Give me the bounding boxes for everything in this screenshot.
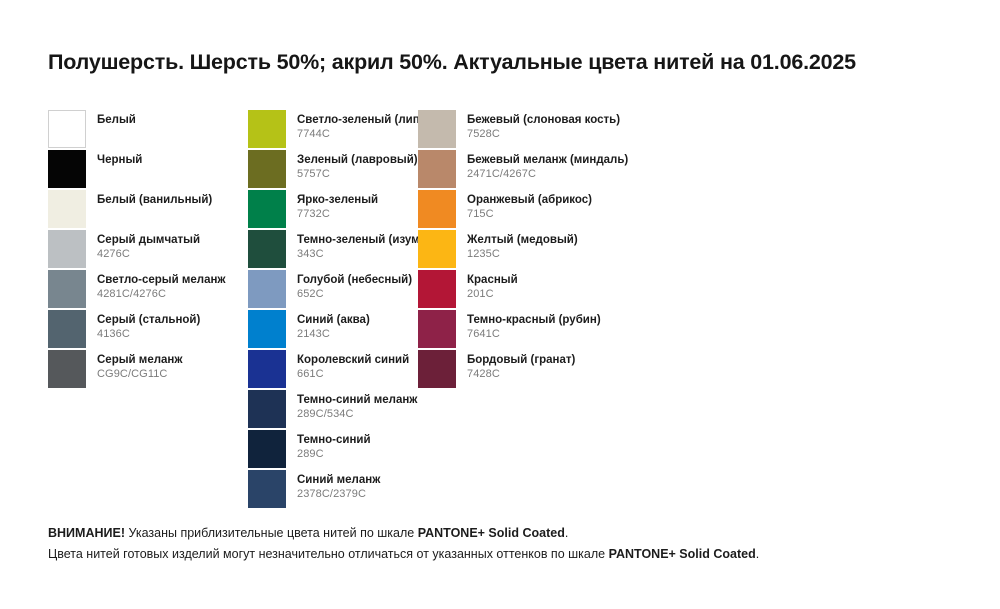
color-swatch[interactable]	[248, 350, 286, 388]
footer-line-2: Цвета нитей готовых изделий могут незнач…	[48, 544, 759, 565]
swatch-pantone-code: 7641C	[467, 328, 601, 341]
color-swatch[interactable]	[418, 110, 456, 148]
swatch-row[interactable]: Темно-синий меланж289C/534C	[248, 390, 418, 430]
swatch-pantone-code: 1235C	[467, 248, 578, 261]
footer-line-2-suffix: .	[756, 547, 759, 561]
color-swatch[interactable]	[248, 190, 286, 228]
footer-line-2-brand: PANTONE+ Solid Coated	[609, 547, 756, 561]
swatch-name: Серый дымчатый	[97, 234, 200, 248]
footer-line-1-brand: PANTONE+ Solid Coated	[418, 526, 565, 540]
swatch-row[interactable]: Ярко-зеленый7732C	[248, 190, 418, 230]
color-swatch[interactable]	[418, 190, 456, 228]
color-swatch[interactable]	[418, 270, 456, 308]
swatch-pantone-code: 289C/534C	[297, 408, 417, 421]
swatch-name: Королевский синий	[297, 354, 409, 368]
swatch-pantone-code: 5757C	[297, 168, 418, 181]
swatch-name: Бордовый (гранат)	[467, 354, 575, 368]
swatch-row[interactable]: Бежевый меланж (миндаль)2471C/4267C	[418, 150, 718, 190]
swatch-row[interactable]: Светло-серый меланж4281C/4276C	[48, 270, 248, 310]
swatch-pantone-code: 661C	[297, 368, 409, 381]
swatch-name: Черный	[97, 154, 142, 168]
color-swatch[interactable]	[248, 390, 286, 428]
swatch-row[interactable]: Красный201C	[418, 270, 718, 310]
swatch-name: Белый	[97, 114, 136, 128]
swatch-name: Белый (ванильный)	[97, 194, 212, 208]
swatch-pantone-code: 289C	[297, 448, 371, 461]
swatch-pantone-code: 7528C	[467, 128, 620, 141]
swatch-columns: БелыйЧерныйБелый (ванильный)Серый дымчат…	[48, 110, 958, 510]
footer-note: ВНИМАНИЕ! Указаны приблизительные цвета …	[48, 523, 759, 564]
swatch-row[interactable]: Светло-зеленый (липа)7744C	[248, 110, 418, 150]
color-chart-page: Полушерсть. Шерсть 50%; акрил 50%. Актуа…	[0, 0, 1000, 609]
swatch-labels: Королевский синий661C	[297, 350, 409, 381]
swatch-labels: Голубой (небесный)652C	[297, 270, 412, 301]
footer-line-1: ВНИМАНИЕ! Указаны приблизительные цвета …	[48, 523, 759, 544]
color-swatch[interactable]	[48, 230, 86, 268]
page-title: Полушерсть. Шерсть 50%; акрил 50%. Актуа…	[48, 50, 856, 75]
swatch-row[interactable]: Серый дымчатый4276C	[48, 230, 248, 270]
swatch-labels: Белый	[97, 110, 136, 128]
swatch-pantone-code: 4276C	[97, 248, 200, 261]
swatch-row[interactable]: Белый (ванильный)	[48, 190, 248, 230]
swatch-labels: Черный	[97, 150, 142, 168]
swatch-name: Ярко-зеленый	[297, 194, 378, 208]
column-warm: Бежевый (слоновая кость)7528CБежевый мел…	[418, 110, 718, 390]
swatch-name: Серый меланж	[97, 354, 183, 368]
footer-attention-label: ВНИМАНИЕ!	[48, 526, 125, 540]
color-swatch[interactable]	[248, 430, 286, 468]
swatch-pantone-code: 2378C/2379C	[297, 488, 380, 501]
swatch-labels: Зеленый (лавровый)5757C	[297, 150, 418, 181]
swatch-labels: Серый (стальной)4136C	[97, 310, 200, 341]
color-swatch[interactable]	[48, 350, 86, 388]
swatch-pantone-code: 652C	[297, 288, 412, 301]
swatch-labels: Темно-красный (рубин)7641C	[467, 310, 601, 341]
swatch-labels: Синий меланж2378C/2379C	[297, 470, 380, 501]
swatch-row[interactable]: Синий (аква)2143C	[248, 310, 418, 350]
swatch-pantone-code: 201C	[467, 288, 518, 301]
swatch-name: Оранжевый (абрикос)	[467, 194, 592, 208]
color-swatch[interactable]	[248, 150, 286, 188]
swatch-labels: Светло-зеленый (липа)7744C	[297, 110, 430, 141]
swatch-row[interactable]: Синий меланж2378C/2379C	[248, 470, 418, 510]
color-swatch[interactable]	[48, 190, 86, 228]
swatch-labels: Оранжевый (абрикос)715C	[467, 190, 592, 221]
swatch-row[interactable]: Черный	[48, 150, 248, 190]
swatch-labels: Бежевый (слоновая кость)7528C	[467, 110, 620, 141]
swatch-labels: Бордовый (гранат)7428C	[467, 350, 575, 381]
swatch-name: Бежевый (слоновая кость)	[467, 114, 620, 128]
swatch-pantone-code: 7428C	[467, 368, 575, 381]
swatch-name: Светло-серый меланж	[97, 274, 226, 288]
swatch-pantone-code: CG9C/CG11C	[97, 368, 183, 381]
swatch-row[interactable]: Желтый (медовый)1235C	[418, 230, 718, 270]
color-swatch[interactable]	[248, 470, 286, 508]
footer-line-1-suffix: .	[565, 526, 568, 540]
color-swatch[interactable]	[248, 230, 286, 268]
swatch-row[interactable]: Бордовый (гранат)7428C	[418, 350, 718, 390]
swatch-row[interactable]: Белый	[48, 110, 248, 150]
swatch-labels: Бежевый меланж (миндаль)2471C/4267C	[467, 150, 628, 181]
swatch-labels: Синий (аква)2143C	[297, 310, 370, 341]
swatch-row[interactable]: Серый (стальной)4136C	[48, 310, 248, 350]
swatch-labels: Темно-синий289C	[297, 430, 371, 461]
swatch-row[interactable]: Темно-зеленый (изумруд)343C	[248, 230, 418, 270]
color-swatch[interactable]	[418, 350, 456, 388]
swatch-labels: Ярко-зеленый7732C	[297, 190, 378, 221]
color-swatch[interactable]	[48, 150, 86, 188]
swatch-row[interactable]: Королевский синий661C	[248, 350, 418, 390]
swatch-row[interactable]: Темно-синий289C	[248, 430, 418, 470]
swatch-labels: Серый меланжCG9C/CG11C	[97, 350, 183, 381]
footer-line-2-text: Цвета нитей готовых изделий могут незнач…	[48, 547, 609, 561]
swatch-labels: Серый дымчатый4276C	[97, 230, 200, 261]
swatch-name: Красный	[467, 274, 518, 288]
swatch-labels: Темно-синий меланж289C/534C	[297, 390, 417, 421]
swatch-row[interactable]: Оранжевый (абрикос)715C	[418, 190, 718, 230]
swatch-name: Синий (аква)	[297, 314, 370, 328]
color-swatch[interactable]	[48, 110, 86, 148]
swatch-name: Светло-зеленый (липа)	[297, 114, 430, 128]
color-swatch[interactable]	[248, 110, 286, 148]
swatch-pantone-code: 4281C/4276C	[97, 288, 226, 301]
column-grayscale: БелыйЧерныйБелый (ванильный)Серый дымчат…	[48, 110, 248, 390]
swatch-name: Голубой (небесный)	[297, 274, 412, 288]
swatch-name: Зеленый (лавровый)	[297, 154, 418, 168]
swatch-pantone-code: 715C	[467, 208, 592, 221]
color-swatch[interactable]	[248, 310, 286, 348]
color-swatch[interactable]	[248, 270, 286, 308]
swatch-name: Серый (стальной)	[97, 314, 200, 328]
swatch-pantone-code: 2143C	[297, 328, 370, 341]
column-green-blue: Светло-зеленый (липа)7744CЗеленый (лавро…	[248, 110, 418, 510]
swatch-pantone-code: 4136C	[97, 328, 200, 341]
swatch-row[interactable]: Серый меланжCG9C/CG11C	[48, 350, 248, 390]
color-swatch[interactable]	[418, 310, 456, 348]
swatch-name: Темно-красный (рубин)	[467, 314, 601, 328]
swatch-row[interactable]: Бежевый (слоновая кость)7528C	[418, 110, 718, 150]
swatch-name: Темно-синий	[297, 434, 371, 448]
swatch-row[interactable]: Зеленый (лавровый)5757C	[248, 150, 418, 190]
swatch-labels: Красный201C	[467, 270, 518, 301]
swatch-pantone-code: 7744C	[297, 128, 430, 141]
swatch-labels: Светло-серый меланж4281C/4276C	[97, 270, 226, 301]
swatch-row[interactable]: Голубой (небесный)652C	[248, 270, 418, 310]
swatch-labels: Желтый (медовый)1235C	[467, 230, 578, 261]
swatch-name: Бежевый меланж (миндаль)	[467, 154, 628, 168]
color-swatch[interactable]	[418, 230, 456, 268]
color-swatch[interactable]	[48, 270, 86, 308]
swatch-name: Желтый (медовый)	[467, 234, 578, 248]
footer-line-1-text: Указаны приблизительные цвета нитей по ш…	[125, 526, 418, 540]
color-swatch[interactable]	[418, 150, 456, 188]
swatch-pantone-code: 2471C/4267C	[467, 168, 628, 181]
swatch-name: Темно-синий меланж	[297, 394, 417, 408]
swatch-pantone-code: 7732C	[297, 208, 378, 221]
swatch-name: Синий меланж	[297, 474, 380, 488]
color-swatch[interactable]	[48, 310, 86, 348]
swatch-row[interactable]: Темно-красный (рубин)7641C	[418, 310, 718, 350]
swatch-labels: Белый (ванильный)	[97, 190, 212, 208]
